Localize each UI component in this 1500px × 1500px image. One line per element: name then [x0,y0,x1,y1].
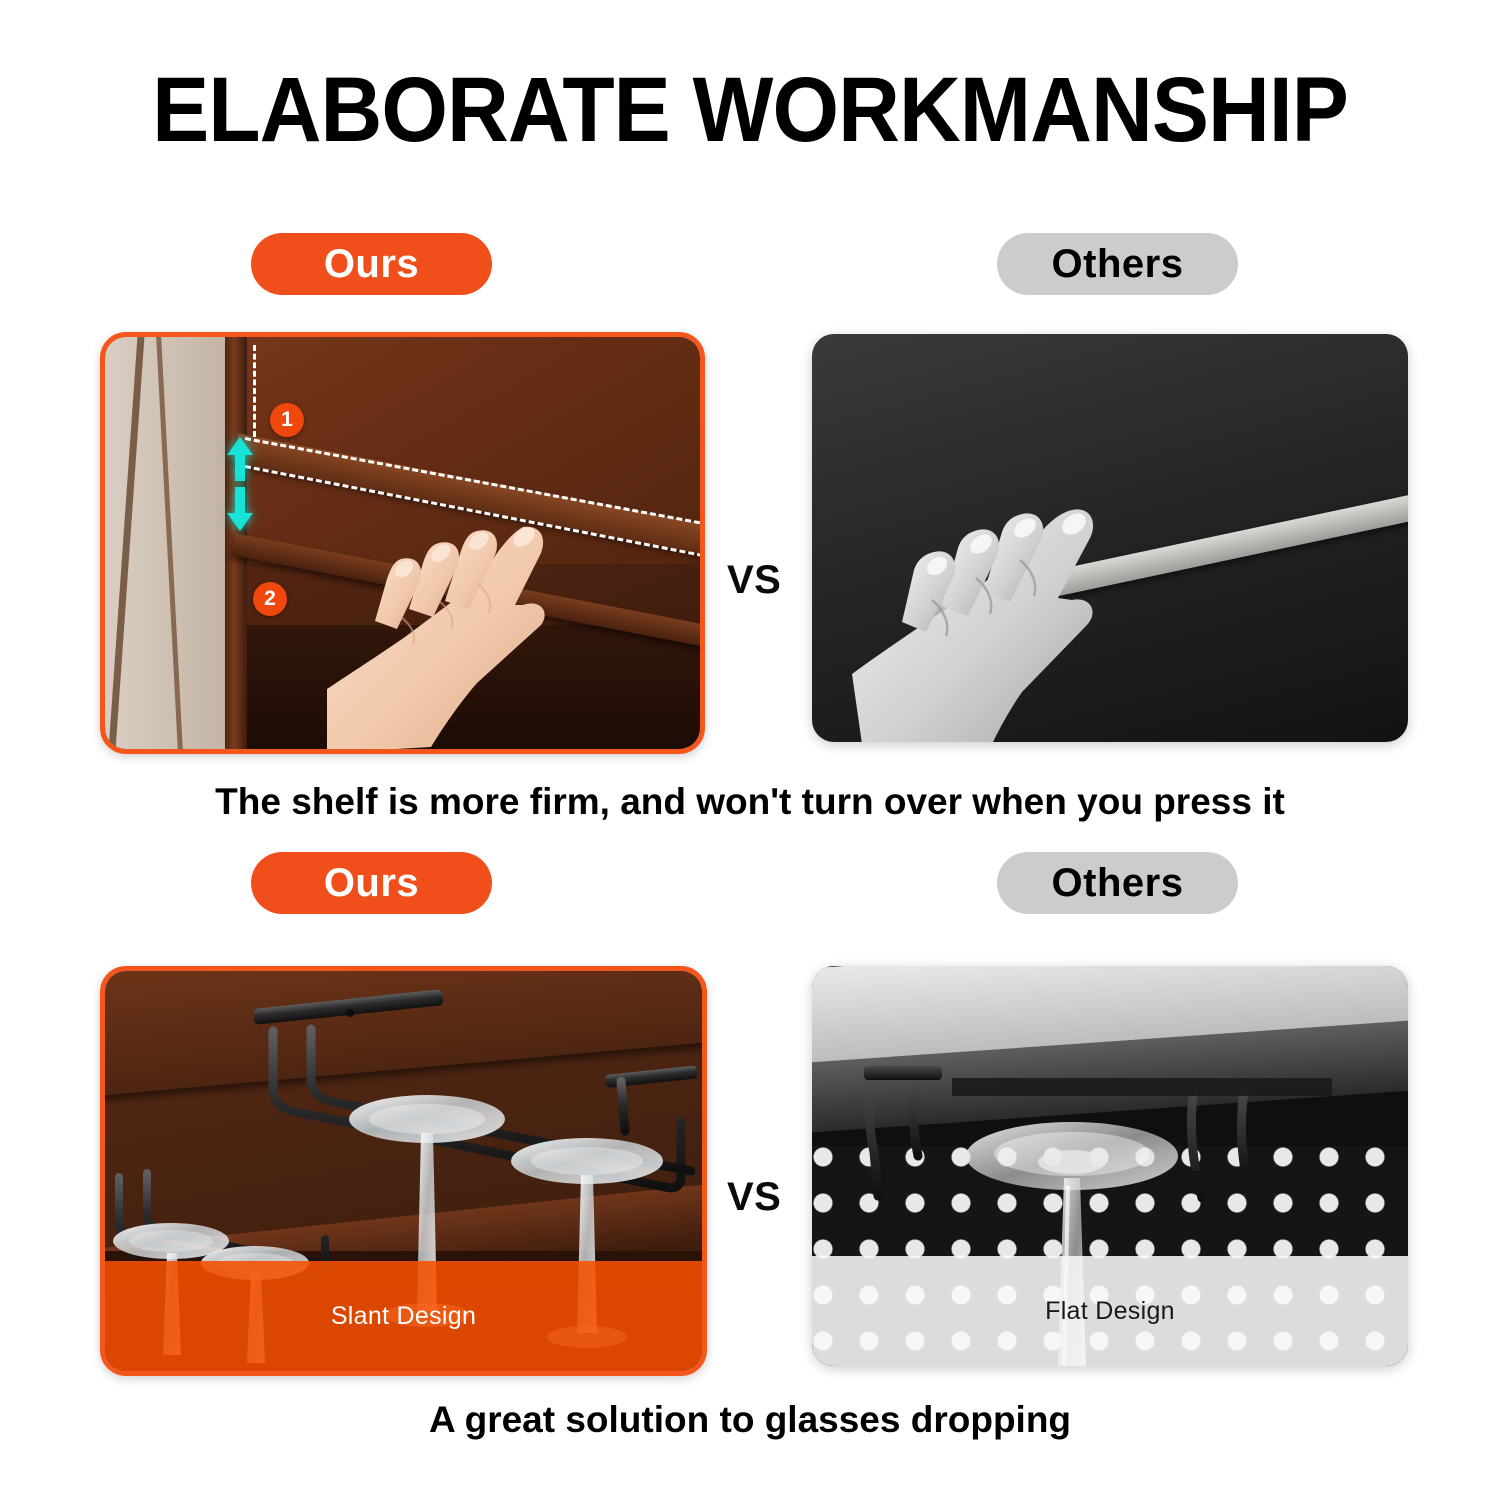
badge-others-row1: Others [997,233,1238,295]
photo-background: 1 2 [105,337,700,749]
band-flat-design-label: Flat Design [1045,1297,1175,1326]
band-flat-design: Flat Design [812,1256,1408,1366]
dashed-vertical-guide [253,345,256,437]
arrow-down-icon [227,487,253,531]
callout-number-2: 2 [253,582,287,616]
vs-label-row2: VS [727,1175,781,1220]
badge-others-row2: Others [997,852,1238,914]
photo-background [812,334,1408,742]
photo-background: Slant Design [105,971,702,1371]
photo-others-flat: Flat Design [812,966,1408,1366]
hand-illustration [327,513,617,753]
photo-ours-firmness: 1 2 [100,332,705,754]
band-slant-design-label: Slant Design [331,1302,476,1331]
arrow-up-icon [227,437,253,481]
badge-ours-row1: Ours [251,233,492,295]
photo-ours-slant: Slant Design [100,966,707,1376]
band-slant-design: Slant Design [105,1261,702,1371]
page-title: ELABORATE WORKMANSHIP [53,58,1448,163]
photo-background: Flat Design [812,966,1408,1366]
hand-illustration-grayscale [822,474,1122,742]
vs-label-row1: VS [727,558,781,603]
badge-ours-row2: Ours [251,852,492,914]
caption-slant: A great solution to glasses dropping [0,1399,1500,1441]
callout-number-1: 1 [270,403,304,437]
light-wood-panel [105,337,225,749]
caption-firmness: The shelf is more firm, and won't turn o… [0,781,1500,823]
photo-others-firmness [812,334,1408,742]
